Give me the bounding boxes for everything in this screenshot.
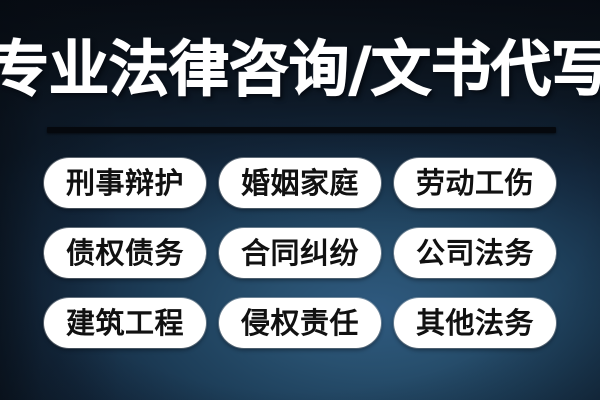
service-pill-labor-injury[interactable]: 劳动工伤 <box>394 158 556 208</box>
banner-title: 专业法律咨询/文书代写 <box>0 30 600 110</box>
service-pill-grid: 刑事辩护 婚姻家庭 劳动工伤 债权债务 合同纠纷 公司法务 建筑工程 侵权责任 … <box>44 158 556 348</box>
service-pill-contract-dispute[interactable]: 合同纠纷 <box>219 228 381 278</box>
service-row: 债权债务 合同纠纷 公司法务 <box>44 228 556 278</box>
service-pill-marriage-family[interactable]: 婚姻家庭 <box>219 158 381 208</box>
service-pill-tort-liability[interactable]: 侵权责任 <box>219 298 381 348</box>
service-row: 刑事辩护 婚姻家庭 劳动工伤 <box>44 158 556 208</box>
service-pill-other-legal[interactable]: 其他法务 <box>394 298 556 348</box>
legal-services-banner: 专业法律咨询/文书代写 刑事辩护 婚姻家庭 劳动工伤 债权债务 合同纠纷 公司法… <box>0 0 600 400</box>
service-pill-corporate-legal[interactable]: 公司法务 <box>394 228 556 278</box>
title-divider <box>47 127 556 133</box>
service-row: 建筑工程 侵权责任 其他法务 <box>44 298 556 348</box>
service-pill-construction-engineering[interactable]: 建筑工程 <box>44 298 206 348</box>
service-pill-criminal-defense[interactable]: 刑事辩护 <box>44 158 206 208</box>
banner-content: 专业法律咨询/文书代写 刑事辩护 婚姻家庭 劳动工伤 债权债务 合同纠纷 公司法… <box>0 0 600 400</box>
service-pill-debt-creditor[interactable]: 债权债务 <box>44 228 206 278</box>
